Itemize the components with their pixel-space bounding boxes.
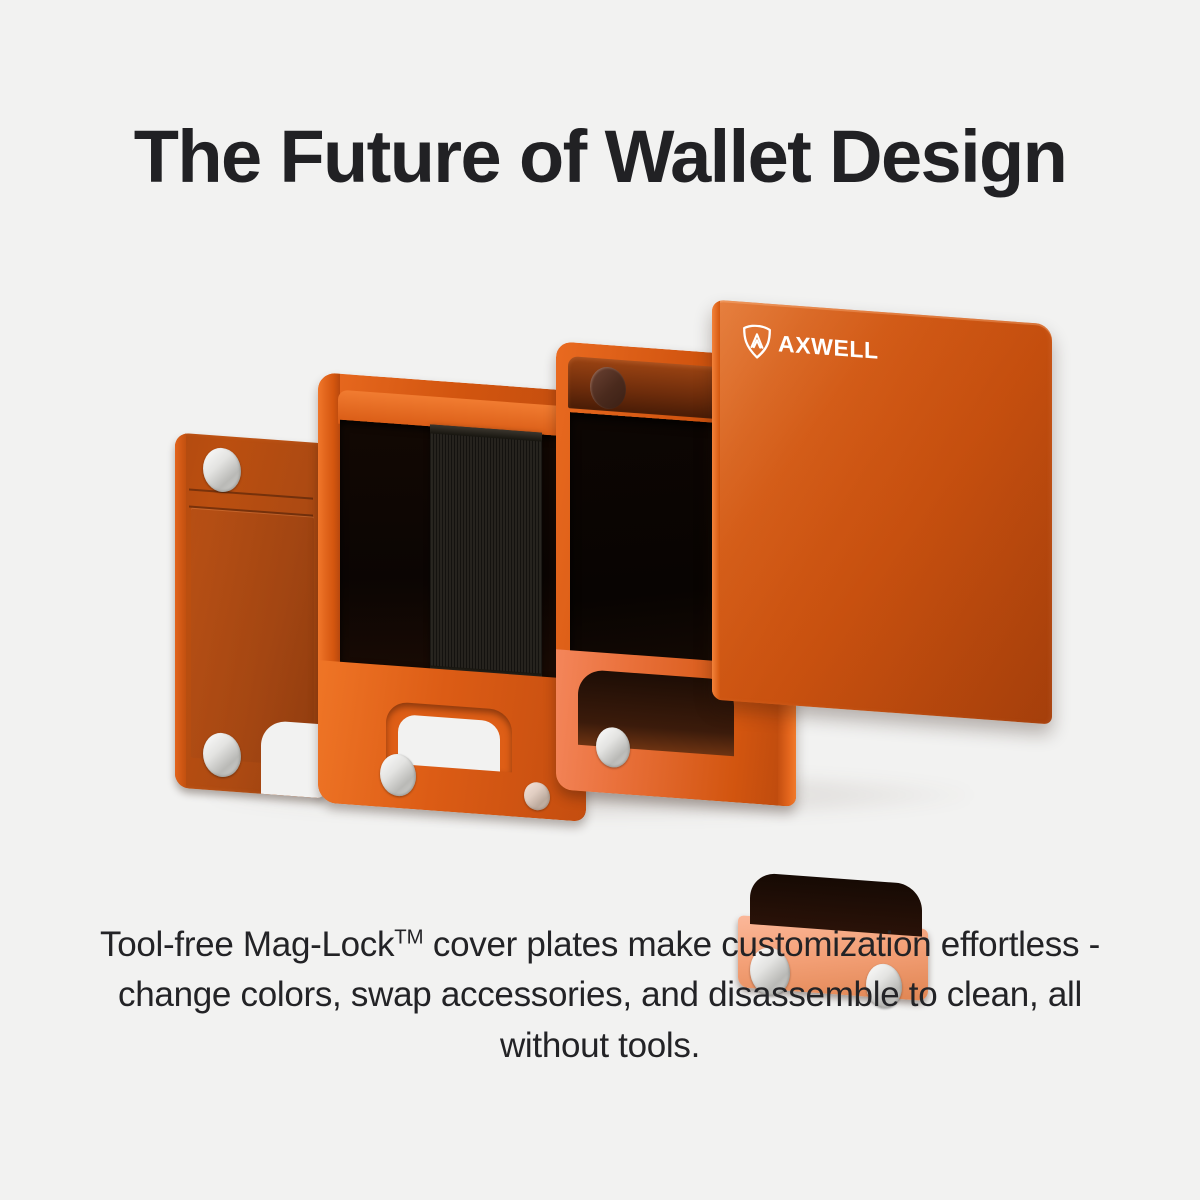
wallet-layer-elastic-strap	[318, 372, 586, 822]
trademark-symbol: TM	[394, 926, 423, 948]
brand-name: AXWELL	[778, 332, 879, 362]
description-container: Tool-free Mag-LockTM cover plates make c…	[0, 920, 1200, 1071]
magnet-disc-icon	[203, 447, 241, 494]
plate-sheen	[712, 300, 1052, 725]
plate-left-edge	[712, 300, 720, 701]
plate-base-notch-cut	[398, 714, 500, 771]
description-text: Tool-free Mag-LockTM cover plates make c…	[70, 920, 1130, 1071]
product-image: AXWELL	[0, 270, 1200, 850]
wallet-layer-front-cover-plate: AXWELL	[712, 300, 1052, 725]
elastic-strap	[430, 424, 542, 682]
page-title: The Future of Wallet Design	[0, 118, 1200, 196]
plate-left-edge	[175, 432, 186, 788]
headline-container: The Future of Wallet Design	[0, 118, 1200, 196]
plate-seam-line	[189, 489, 313, 500]
plate-bottom-notch	[261, 720, 325, 799]
shield-icon	[742, 324, 772, 360]
wallet-layer-rear-cover-plate	[175, 432, 325, 798]
description-line1-a: Tool-free Mag-Lock	[100, 925, 394, 964]
product-marketing-card: The Future of Wallet Design	[0, 0, 1200, 1200]
description-line1-b: cover plates make customization	[424, 925, 932, 964]
